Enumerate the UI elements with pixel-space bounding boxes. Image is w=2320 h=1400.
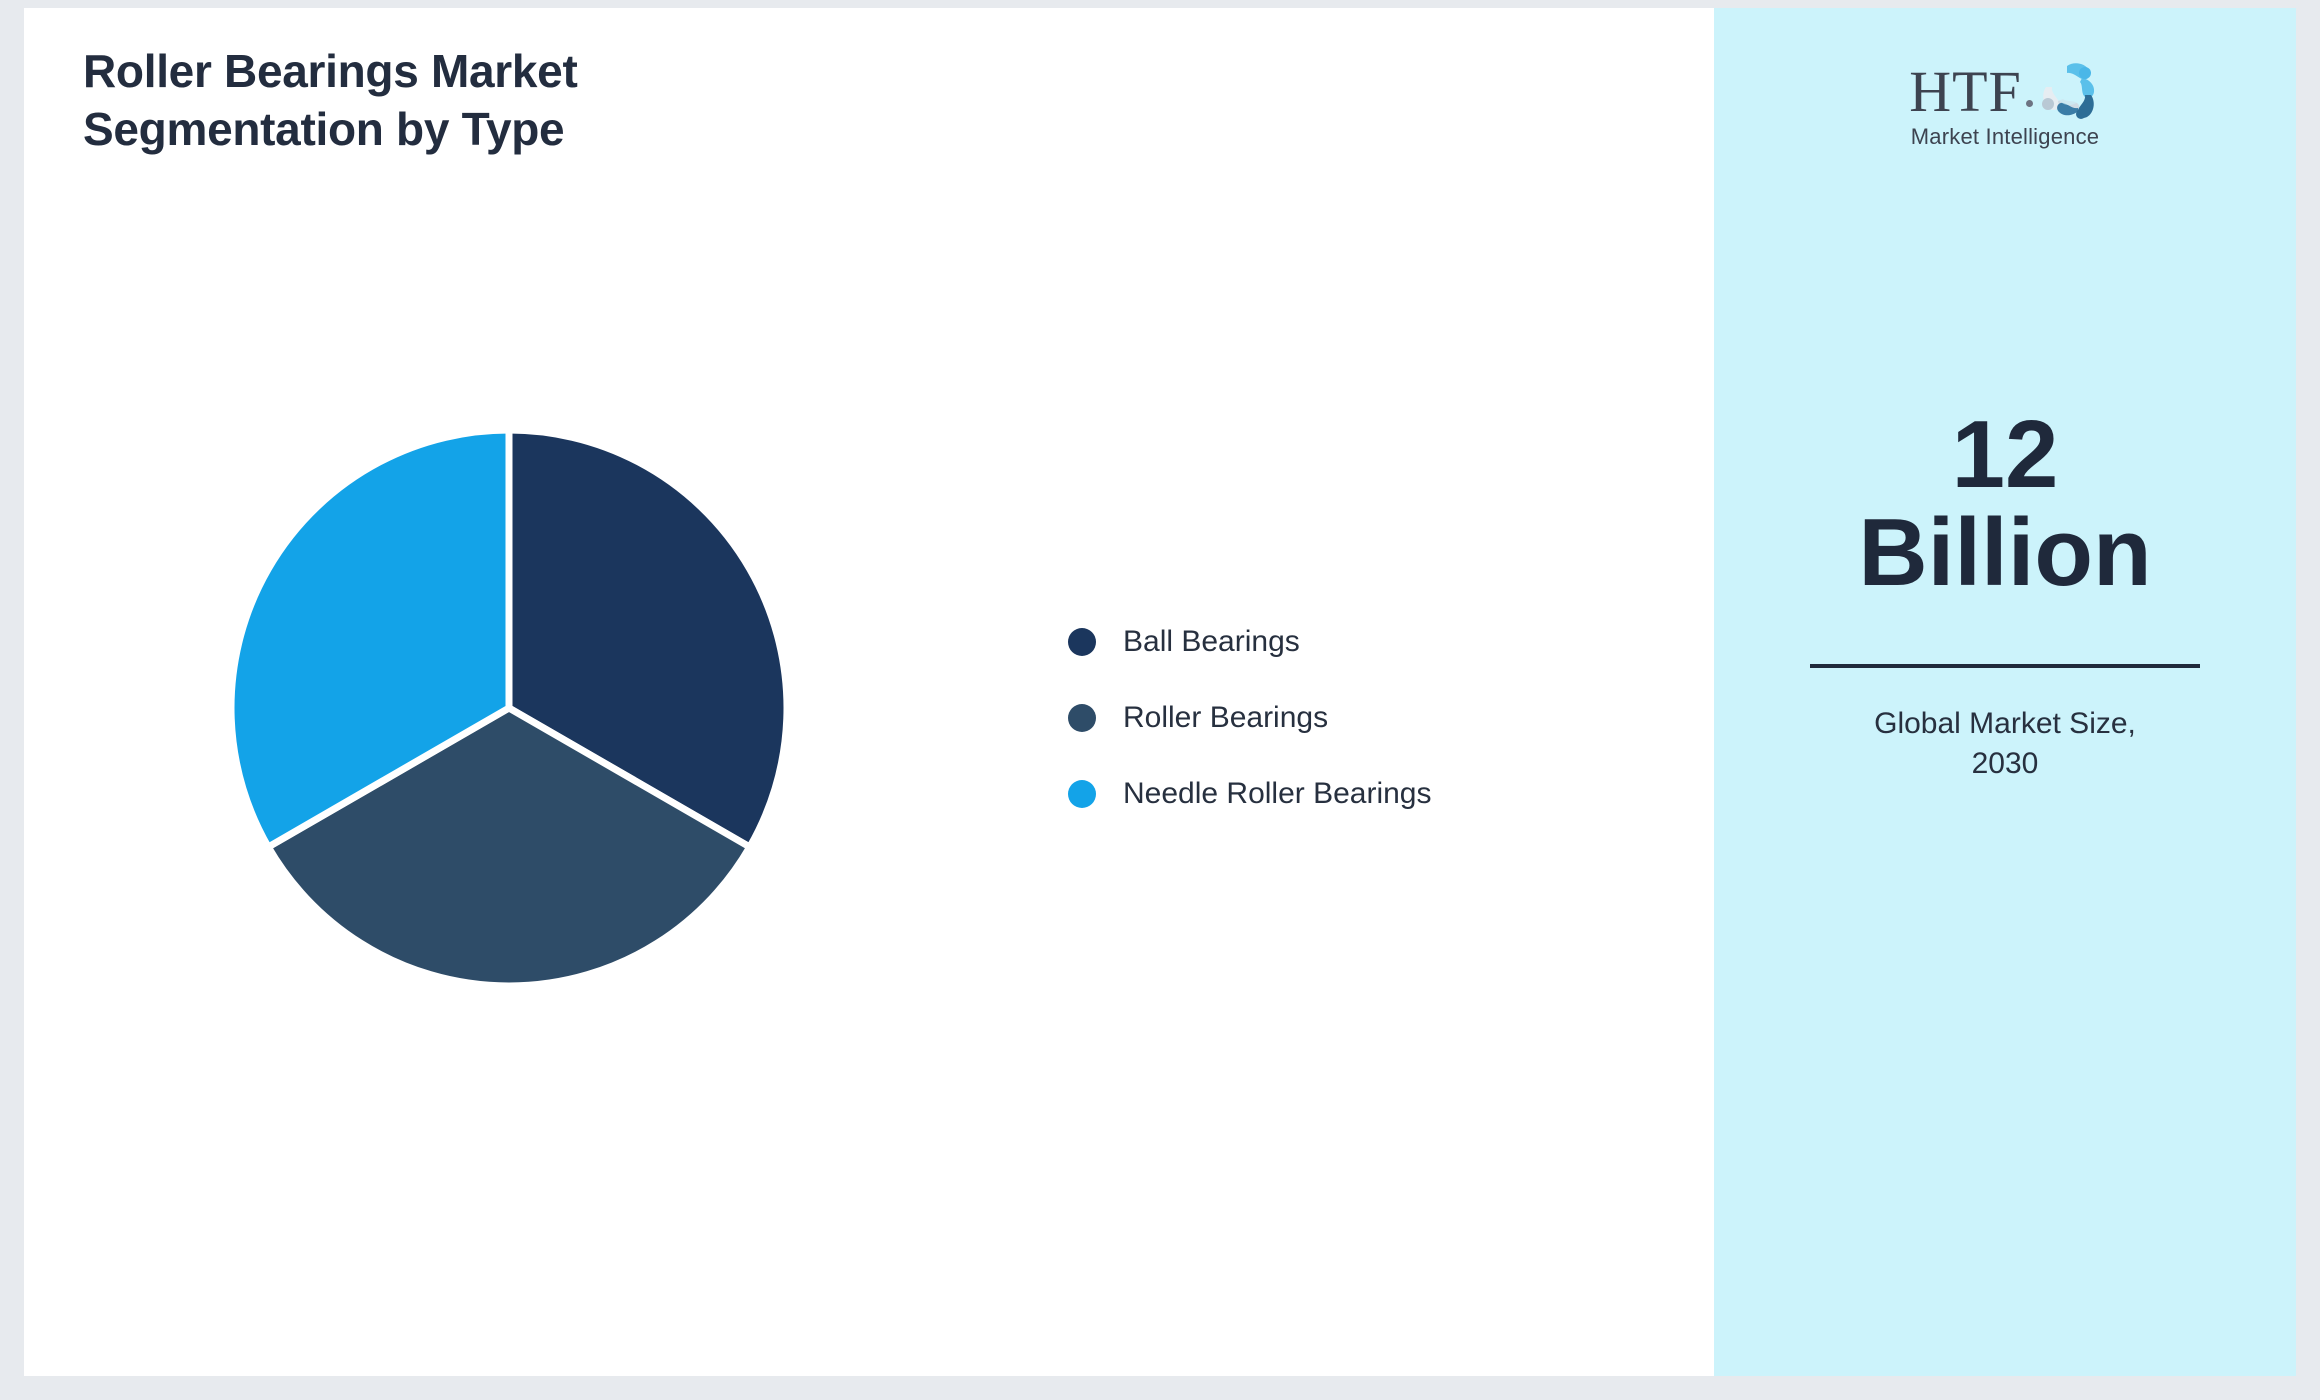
logo-tagline: Market Intelligence: [1911, 124, 2099, 150]
stat-caption-line-1: Global Market Size,: [1874, 707, 2136, 740]
legend-label: Needle Roller Bearings: [1123, 777, 1432, 811]
logo-wordmark: HTF: [1909, 63, 2022, 121]
logo-row: HTF: [1909, 58, 2101, 126]
logo-dot-icon: [2026, 100, 2033, 107]
page-title: Roller Bearings Market Segmentation by T…: [83, 48, 843, 164]
stat-panel: HTF: [1714, 8, 2296, 1376]
legend-swatch-icon: [1068, 628, 1096, 656]
legend-swatch-icon: [1068, 704, 1096, 732]
legend-swatch-icon: [1068, 780, 1096, 808]
pie-slices: [231, 430, 787, 986]
stat-unit: Billion: [1714, 504, 2296, 602]
legend-item-needle-roller-bearings[interactable]: Needle Roller Bearings: [1068, 756, 1432, 832]
page-title-line-1: Roller Bearings Market: [83, 48, 843, 94]
pie-chart: [204, 403, 814, 1013]
legend-label: Roller Bearings: [1123, 701, 1328, 735]
legend-label: Ball Bearings: [1123, 625, 1300, 659]
chart-legend: Ball Bearings Roller Bearings Needle Rol…: [1068, 604, 1432, 832]
infographic-card: Roller Bearings Market Segmentation by T…: [24, 8, 2296, 1376]
brand-logo: HTF: [1714, 58, 2296, 166]
page-title-line-2: Segmentation by Type: [83, 106, 843, 152]
stat-caption: Global Market Size, 2030: [1714, 704, 2296, 784]
stat-divider: [1810, 664, 2200, 668]
stat-caption-line-2: 2030: [1972, 747, 2039, 780]
chart-pane: Roller Bearings Market Segmentation by T…: [24, 8, 1714, 1376]
legend-item-roller-bearings[interactable]: Roller Bearings: [1068, 680, 1432, 756]
logo-people-swirl-icon: [2037, 59, 2101, 121]
stat-block: 12 Billion Global Market Size, 2030: [1714, 406, 2296, 784]
legend-item-ball-bearings[interactable]: Ball Bearings: [1068, 604, 1432, 680]
stat-value: 12: [1714, 406, 2296, 504]
